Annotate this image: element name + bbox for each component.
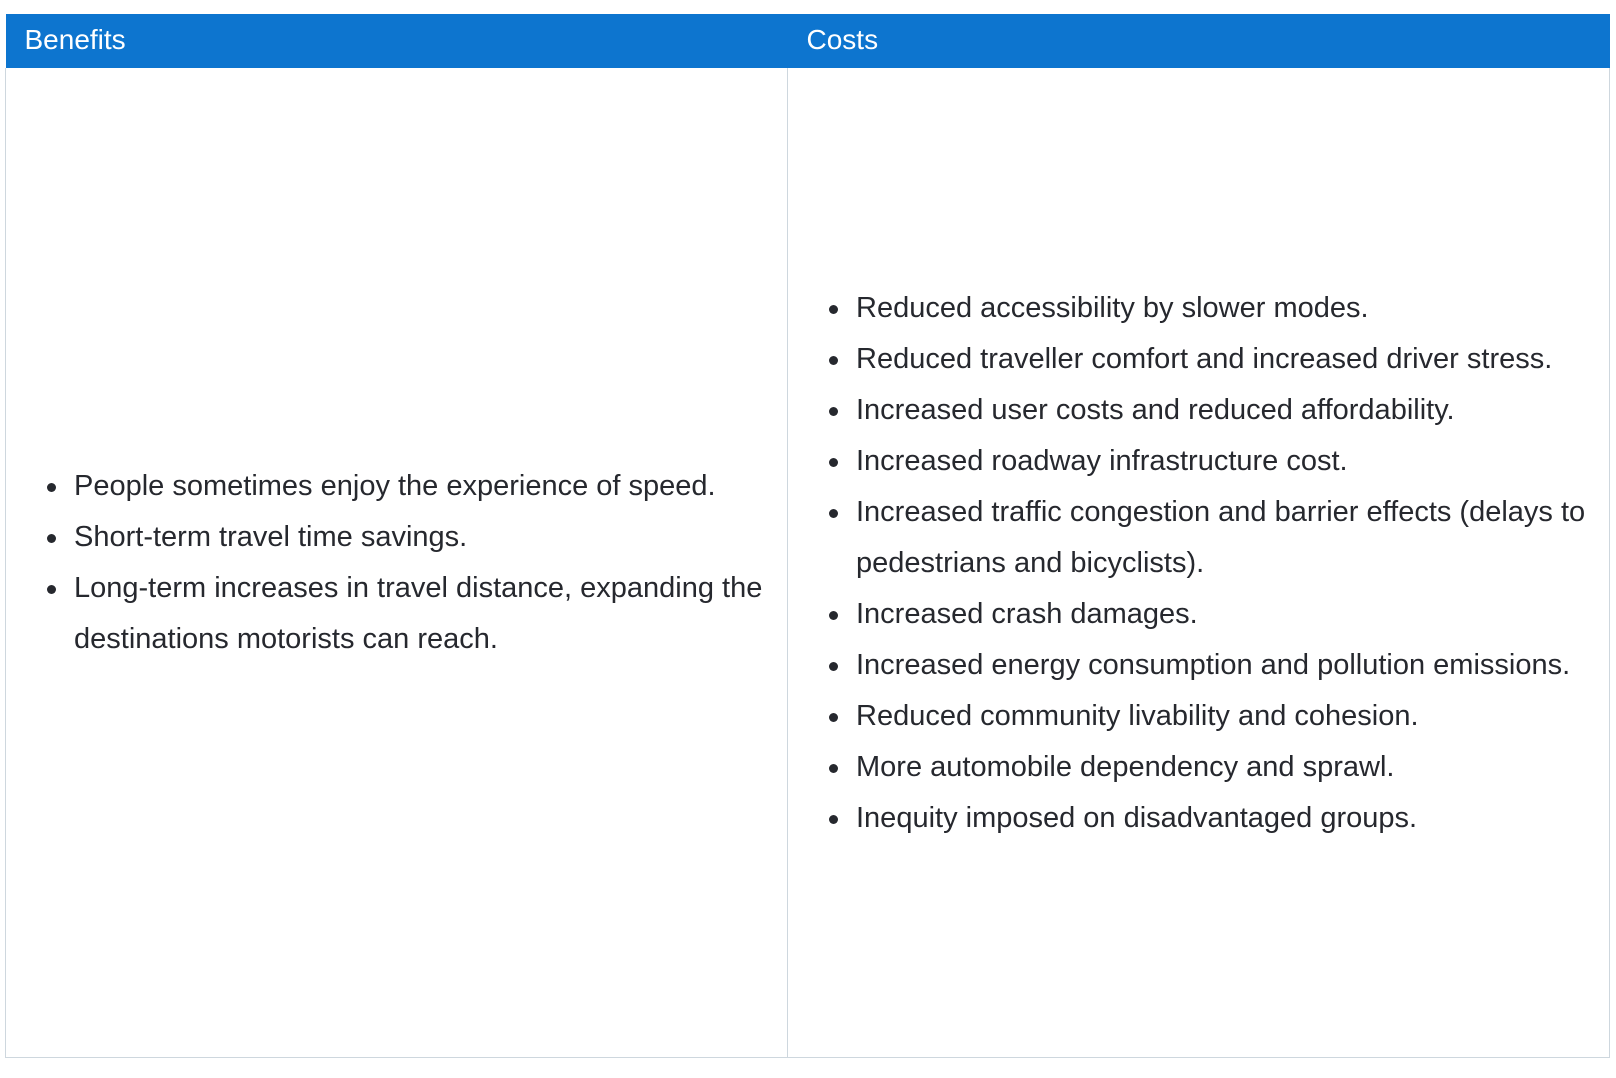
- benefits-costs-table: Benefits Costs People sometimes enjoy th…: [5, 14, 1610, 1058]
- cost-list-item: Reduced accessibility by slower modes.: [856, 283, 1599, 334]
- cost-list-item: Increased traffic congestion and barrier…: [856, 487, 1599, 589]
- cost-list-item: Increased user costs and reduced afforda…: [856, 385, 1599, 436]
- cost-list-item: Increased roadway infrastructure cost.: [856, 436, 1599, 487]
- benefit-list-item: People sometimes enjoy the experience of…: [74, 461, 777, 512]
- benefits-content: People sometimes enjoy the experience of…: [6, 461, 787, 665]
- cell-costs: Reduced accessibility by slower modes.Re…: [788, 68, 1610, 1058]
- cost-list-item: More automobile dependency and sprawl.: [856, 742, 1599, 793]
- cost-list-item: Increased crash damages.: [856, 589, 1599, 640]
- cost-list-item: Reduced community livability and cohesio…: [856, 691, 1599, 742]
- column-header-benefits: Benefits: [6, 14, 788, 68]
- table-header-row: Benefits Costs: [6, 14, 1610, 68]
- table-body: People sometimes enjoy the experience of…: [6, 68, 1610, 1058]
- cost-list-item: Inequity imposed on disadvantaged groups…: [856, 793, 1599, 844]
- benefit-list-item: Long-term increases in travel distance, …: [74, 563, 777, 665]
- column-header-costs: Costs: [788, 14, 1610, 68]
- cost-list-item: Increased energy consumption and polluti…: [856, 640, 1599, 691]
- benefits-bullet-list: People sometimes enjoy the experience of…: [6, 461, 787, 665]
- table-header: Benefits Costs: [6, 14, 1610, 68]
- benefit-list-item: Short-term travel time savings.: [74, 512, 777, 563]
- cell-benefits: People sometimes enjoy the experience of…: [6, 68, 788, 1058]
- costs-bullet-list: Reduced accessibility by slower modes.Re…: [788, 283, 1609, 844]
- table-row: People sometimes enjoy the experience of…: [6, 68, 1610, 1058]
- comparison-table-container: Benefits Costs People sometimes enjoy th…: [0, 0, 1616, 1078]
- costs-content: Reduced accessibility by slower modes.Re…: [788, 272, 1609, 854]
- cost-list-item: Reduced traveller comfort and increased …: [856, 334, 1599, 385]
